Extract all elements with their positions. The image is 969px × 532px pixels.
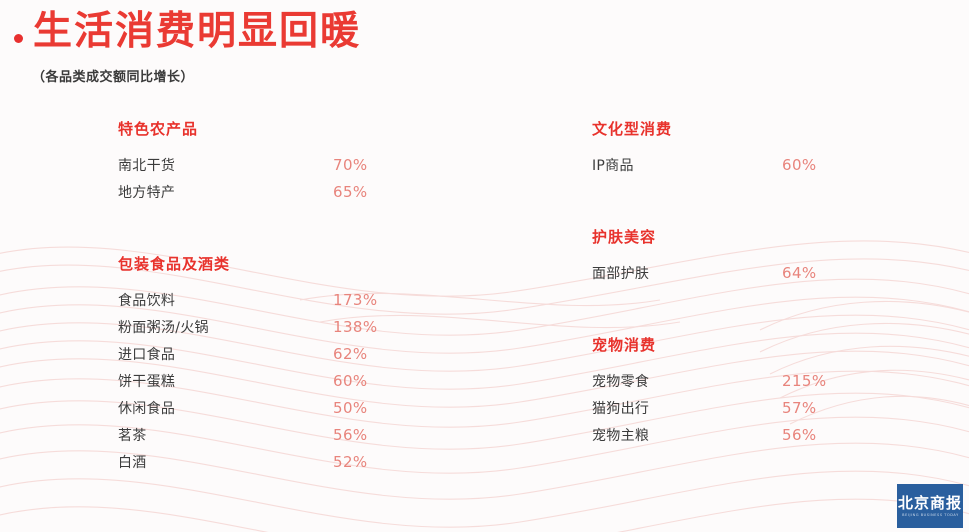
spacer: [592, 286, 932, 334]
bullet-dot-icon: [14, 34, 23, 43]
page-subtitle: （各品类成交额同比增长）: [32, 66, 194, 85]
row-label: 南北干货: [118, 155, 175, 175]
row-label: 食品饮料: [118, 290, 175, 310]
right-column: 文化型消费 IP商品 60% 护肤美容 面部护肤 64%: [592, 118, 932, 448]
publisher-logo: 北京商报 BEIJING BUSINESS TODAY: [897, 484, 963, 528]
row-value: 62%: [333, 345, 368, 363]
section-heading-culture: 文化型消费: [592, 118, 932, 139]
row-label: 宠物主粮: [592, 425, 649, 445]
chart-row: 休闲食品 50%: [118, 394, 448, 421]
row-value: 56%: [333, 426, 368, 444]
chart-row: 猫狗出行 57%: [592, 394, 932, 421]
row-value: 50%: [333, 399, 368, 417]
row-value: 52%: [333, 453, 368, 471]
chart-row: 食品饮料 173%: [118, 286, 448, 313]
section-agri: 特色农产品 南北干货 70% 地方特产 65%: [118, 118, 448, 205]
chart-row: 南北干货 70%: [118, 151, 448, 178]
row-label: 饼干蛋糕: [118, 371, 175, 391]
section-packaged: 包装食品及酒类 食品饮料 173% 粉面粥汤/火锅 138% 进口食品: [118, 253, 448, 475]
chart-row: 宠物零食 215%: [592, 367, 932, 394]
row-value: 70%: [333, 156, 368, 174]
row-label: 猫狗出行: [592, 398, 649, 418]
logo-pinyin: BEIJING BUSINESS TODAY: [902, 512, 959, 519]
row-label: 进口食品: [118, 344, 175, 364]
chart-row: 白酒 52%: [118, 448, 448, 475]
section-beauty: 护肤美容 面部护肤 64%: [592, 226, 932, 286]
logo-name: 北京商报: [898, 494, 962, 512]
row-value: 173%: [333, 291, 377, 309]
section-heading-beauty: 护肤美容: [592, 226, 932, 247]
chart-row: IP商品 60%: [592, 151, 932, 178]
row-value: 57%: [782, 399, 817, 417]
chart-row: 面部护肤 64%: [592, 259, 932, 286]
row-value: 138%: [333, 318, 377, 336]
row-value: 65%: [333, 183, 368, 201]
row-label: IP商品: [592, 155, 634, 175]
section-pet: 宠物消费 宠物零食 215% 猫狗出行 57% 宠物主粮: [592, 334, 932, 448]
section-heading-pet: 宠物消费: [592, 334, 932, 355]
row-label: 休闲食品: [118, 398, 175, 418]
row-value: 60%: [782, 156, 817, 174]
chart-row: 饼干蛋糕 60%: [118, 367, 448, 394]
spacer: [118, 205, 448, 253]
chart-row: 宠物主粮 56%: [592, 421, 932, 448]
section-heading-packaged: 包装食品及酒类: [118, 253, 448, 274]
chart-row: 茗茶 56%: [118, 421, 448, 448]
chart-row: 粉面粥汤/火锅 138%: [118, 313, 448, 340]
row-label: 宠物零食: [592, 371, 649, 391]
page-title: 生活消费明显回暖: [33, 10, 361, 54]
section-culture: 文化型消费 IP商品 60%: [592, 118, 932, 178]
infographic-page: 生活消费明显回暖 （各品类成交额同比增长） 特色农产品 南北干货 70% 地方特…: [0, 0, 969, 532]
chart-row: 地方特产 65%: [118, 178, 448, 205]
row-label: 粉面粥汤/火锅: [118, 317, 209, 337]
chart-row: 进口食品 62%: [118, 340, 448, 367]
section-heading-agri: 特色农产品: [118, 118, 448, 139]
spacer: [592, 178, 932, 226]
left-column: 特色农产品 南北干货 70% 地方特产 65% 包装食品及酒类 食品饮料: [118, 118, 448, 475]
row-label: 面部护肤: [592, 263, 649, 283]
row-value: 215%: [782, 372, 826, 390]
row-value: 60%: [333, 372, 368, 390]
row-label: 地方特产: [118, 182, 175, 202]
row-value: 64%: [782, 264, 817, 282]
row-label: 白酒: [118, 452, 147, 472]
row-value: 56%: [782, 426, 817, 444]
row-label: 茗茶: [118, 425, 147, 445]
